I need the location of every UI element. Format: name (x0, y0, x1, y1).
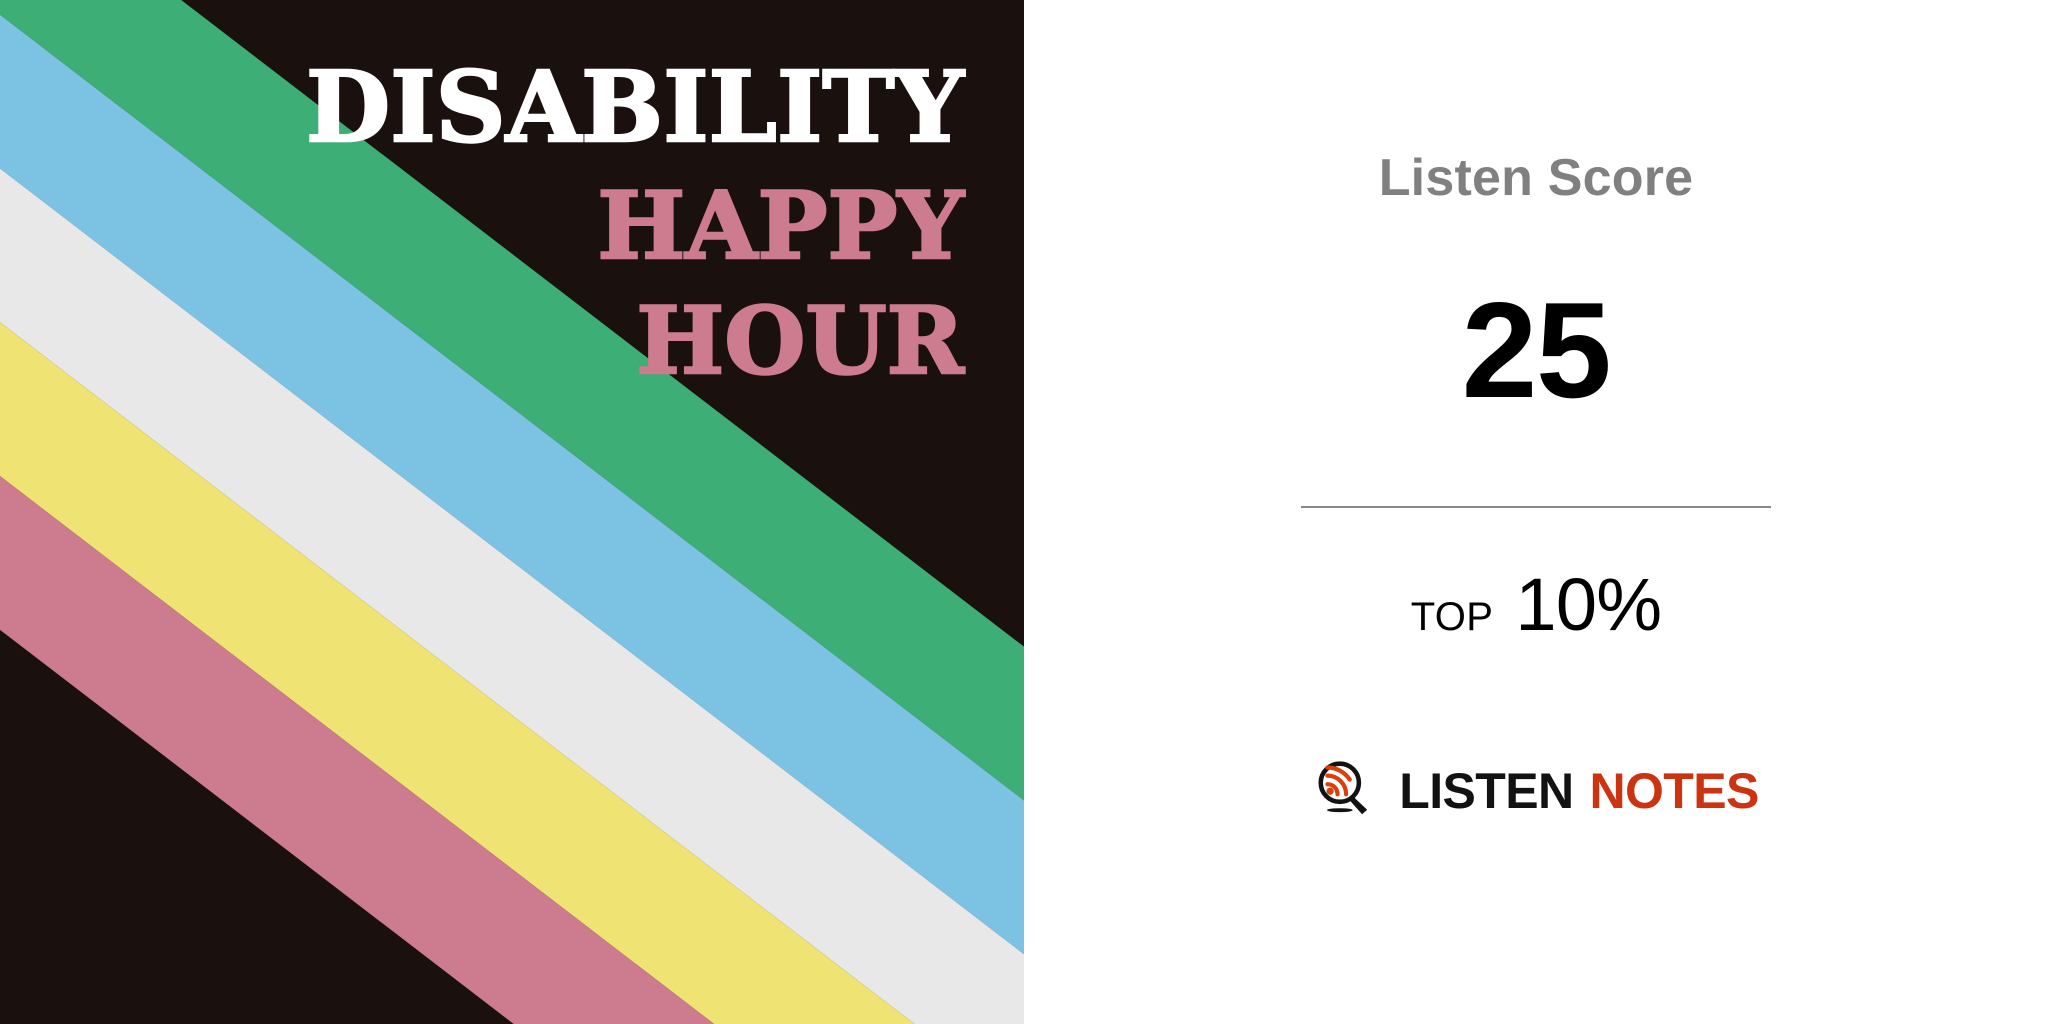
podcast-title: DISABILITY HAPPY HOUR (306, 58, 964, 389)
title-line-happy: HAPPY (306, 179, 964, 274)
score-divider (1301, 506, 1771, 508)
rank-row: TOP 10% (1411, 568, 1662, 642)
listen-notes-logo[interactable]: LISTENNOTES (1313, 758, 1758, 824)
podcast-cover-art[interactable]: DISABILITY HAPPY HOUR (0, 0, 1024, 1024)
listen-score-label: Listen Score (1379, 152, 1694, 204)
wordmark-listen: LISTEN (1399, 763, 1573, 819)
magnifying-glass-rss-icon (1313, 758, 1379, 824)
listen-notes-wordmark: LISTENNOTES (1399, 766, 1758, 816)
title-line-disability: DISABILITY (306, 58, 964, 157)
rank-prefix-label: TOP (1411, 597, 1494, 637)
wordmark-notes: NOTES (1589, 763, 1758, 819)
rank-percentile-value: 10% (1515, 568, 1661, 642)
title-line-hour: HOUR (306, 294, 964, 389)
listen-score-value: 25 (1462, 282, 1611, 418)
listen-score-panel: Listen Score 25 TOP 10% LISTENNO (1024, 0, 2048, 1024)
listen-score-card: DISABILITY HAPPY HOUR Listen Score 25 TO… (0, 0, 2048, 1024)
